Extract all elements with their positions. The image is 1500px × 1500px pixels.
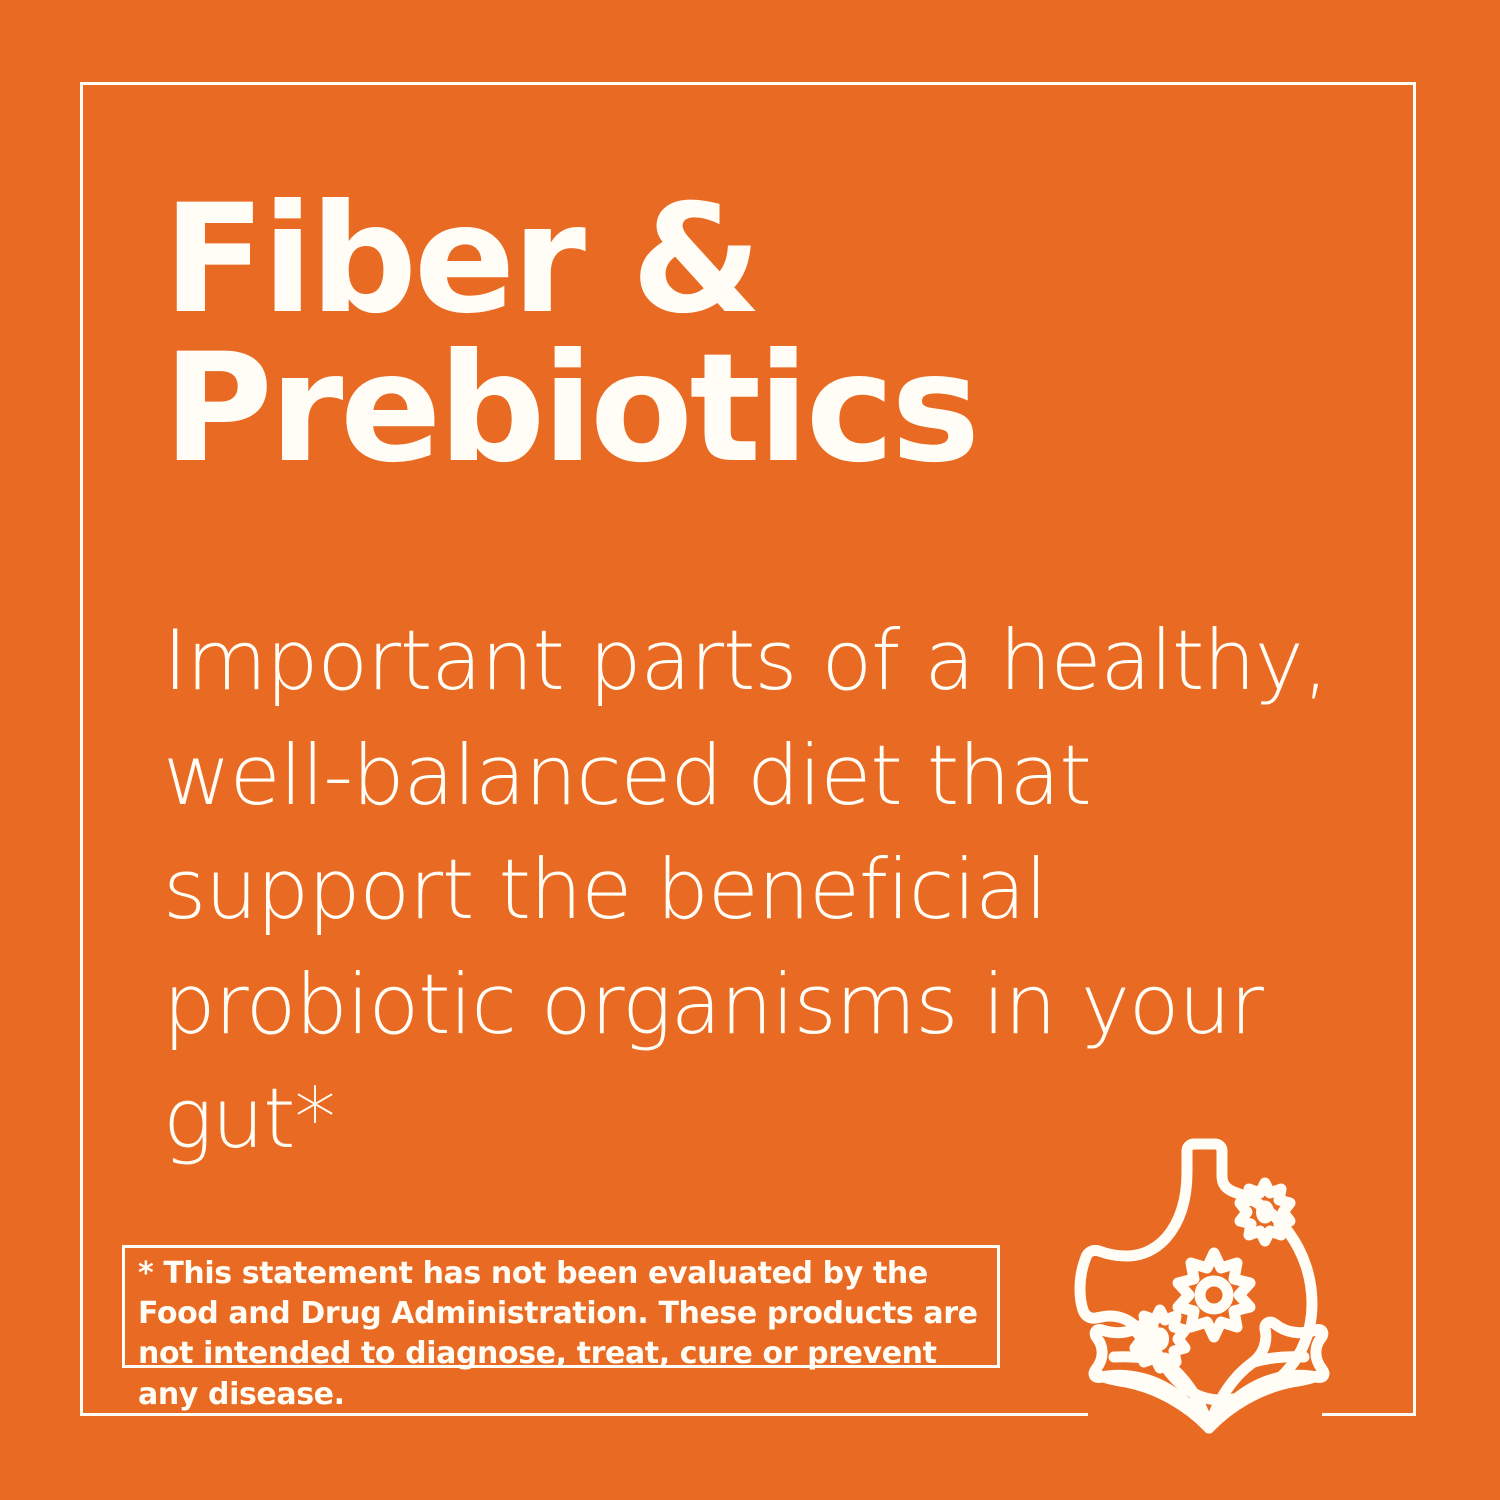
- frame-top-edge: [80, 82, 1416, 85]
- poster-canvas: Fiber & Prebiotics Important parts of a …: [0, 0, 1500, 1500]
- microbe-small-upper: [1240, 1183, 1290, 1241]
- page-title: Fiber & Prebiotics: [163, 186, 1263, 483]
- frame-left-edge: [80, 82, 83, 1416]
- body-paragraph: Important parts of a healthy, well-balan…: [163, 604, 1378, 1177]
- microbe-large: [1178, 1253, 1250, 1337]
- disclaimer-text: * This statement has not been evaluated …: [138, 1254, 988, 1415]
- disclaimer-box: * This statement has not been evaluated …: [122, 1245, 1000, 1368]
- wheat-frond-left: [1094, 1322, 1209, 1428]
- stomach-with-microbes-and-wheat-icon: [1044, 1126, 1374, 1436]
- frame-right-edge: [1413, 82, 1416, 1416]
